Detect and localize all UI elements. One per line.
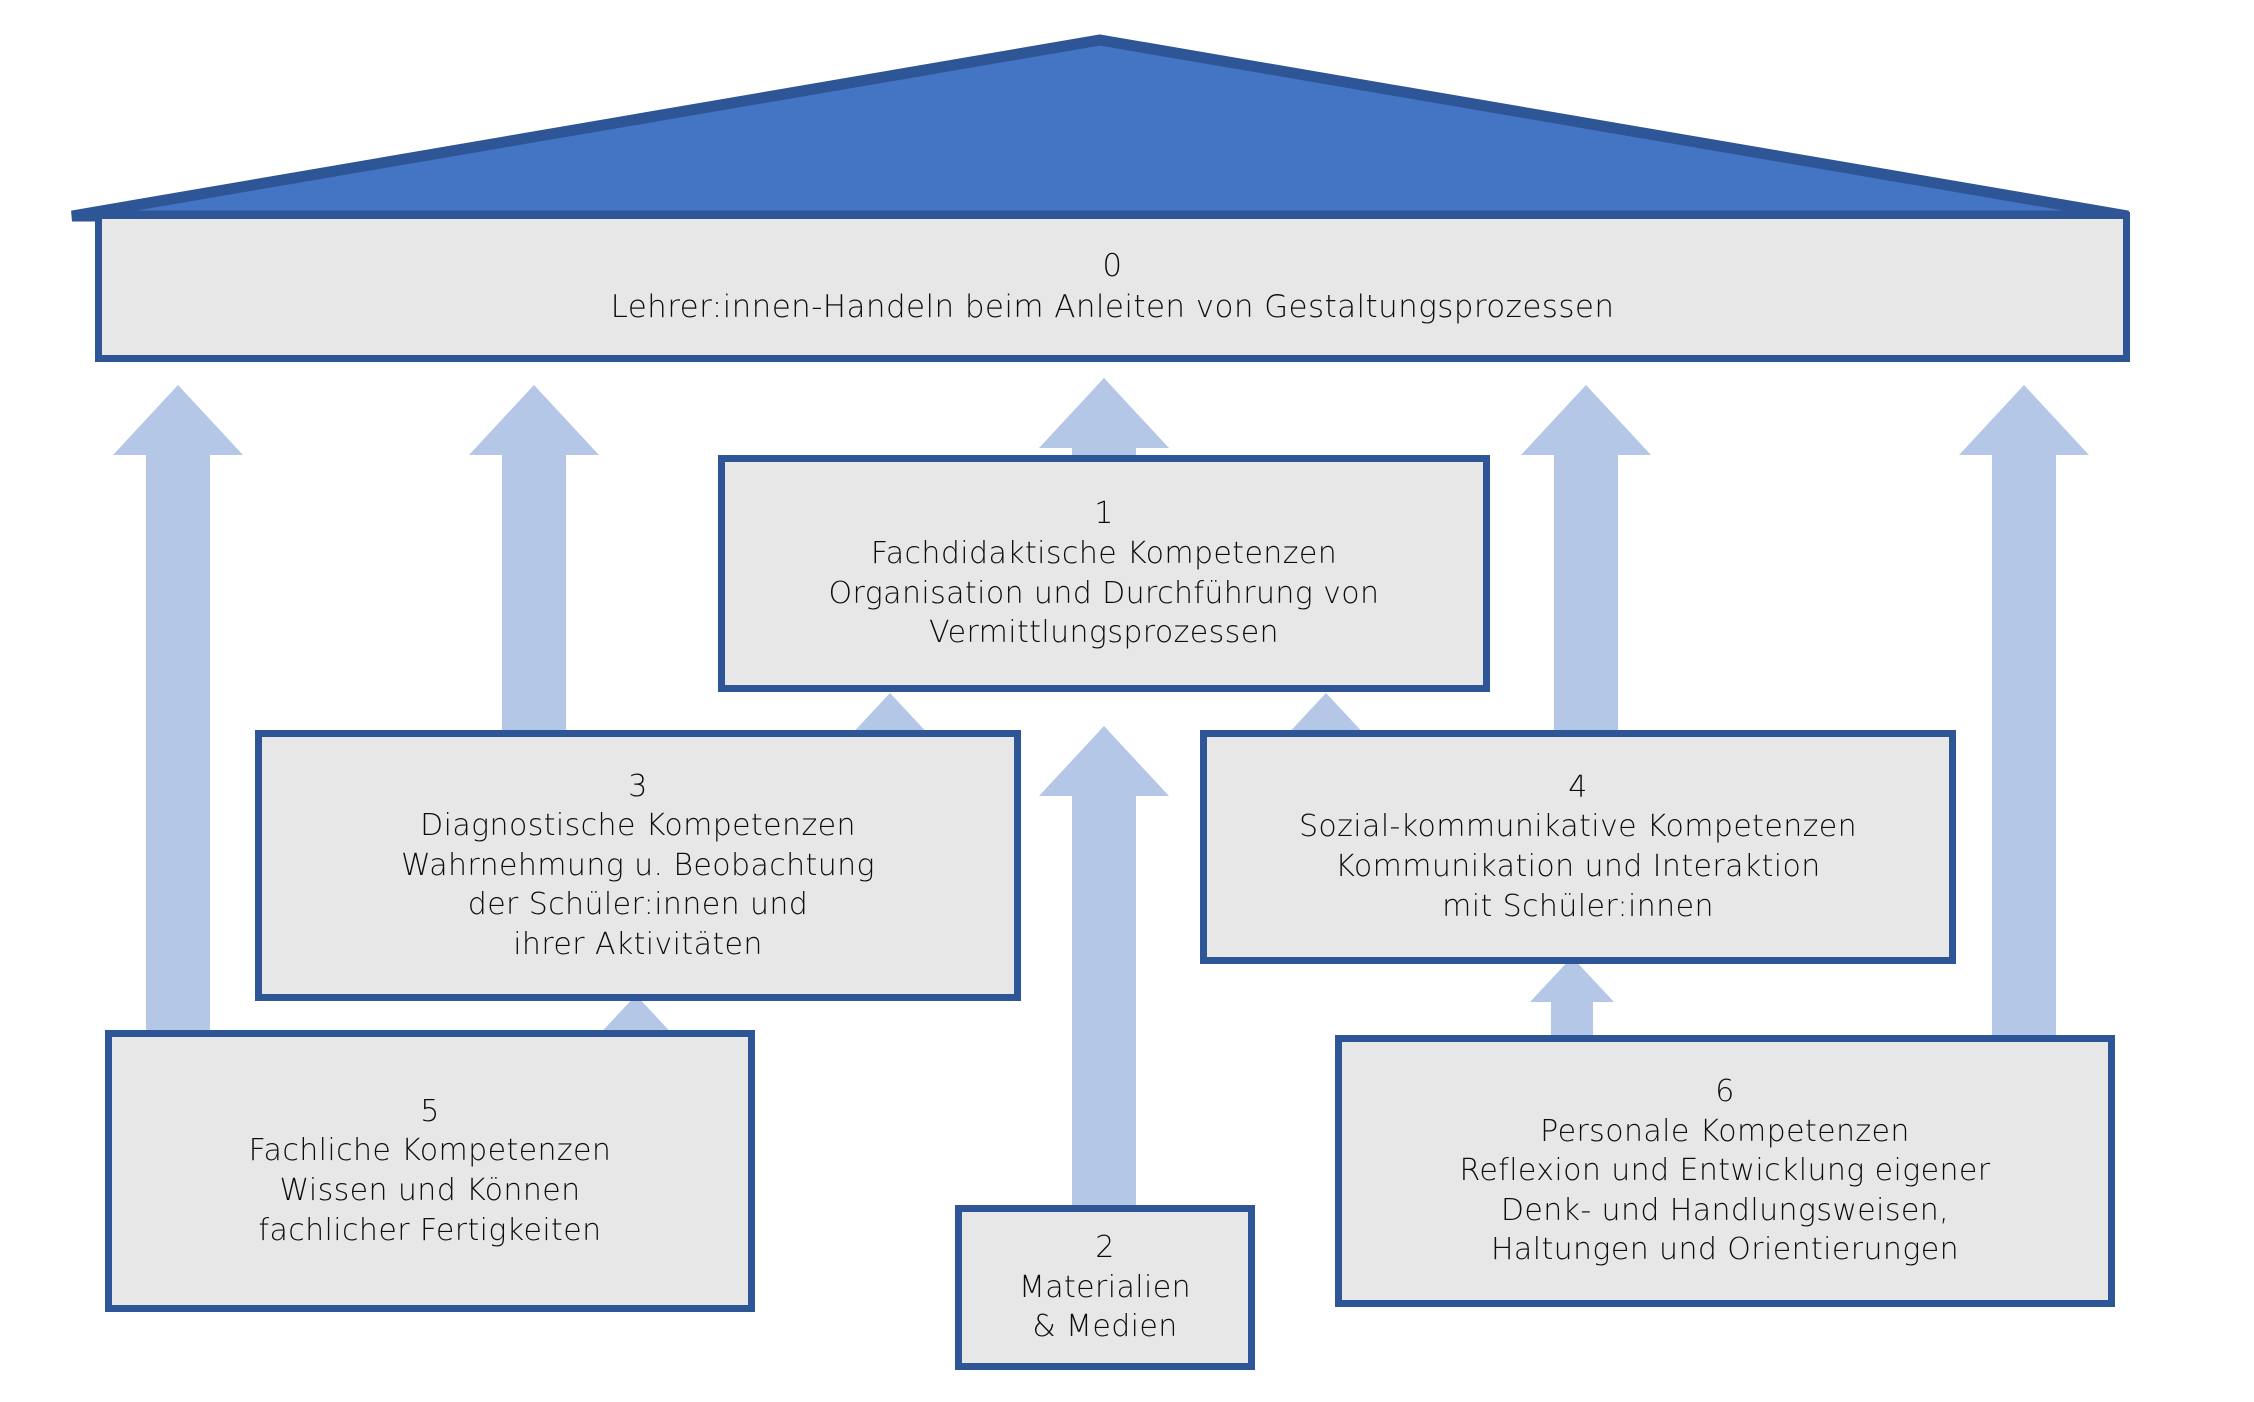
node-3-line-1: Diagnostische Kompetenzen — [401, 806, 875, 846]
node-5-line-3: fachlicher Fertigkeiten — [249, 1211, 612, 1251]
node-box-3[interactable]: 3 Diagnostische Kompetenzen Wahrnehmung … — [255, 730, 1021, 1001]
node-2-line-1: Materialien — [1019, 1268, 1191, 1308]
node-3-content: 3 Diagnostische Kompetenzen Wahrnehmung … — [389, 767, 887, 965]
node-3-number: 3 — [401, 767, 875, 807]
node-6-line-4: Haltungen und Orientierungen — [1459, 1230, 1990, 1270]
node-6-line-2: Reflexion und Entwicklung eigener — [1459, 1151, 1990, 1191]
diagram-canvas: 0 Lehrer:innen-Handeln beim Anleiten von… — [0, 0, 2254, 1402]
node-box-1[interactable]: 1 Fachdidaktische Kompetenzen Organisati… — [718, 455, 1490, 692]
node-6-number: 6 — [1459, 1072, 1990, 1112]
node-0-line-1: Lehrer:innen-Handeln beim Anleiten von G… — [611, 287, 1615, 328]
node-5-content: 5 Fachliche Kompetenzen Wissen und Könne… — [237, 1092, 624, 1250]
node-4-line-3: mit Schüler:innen — [1299, 887, 1857, 927]
arrow-3-to-0-left — [469, 385, 599, 730]
node-6-content: 6 Personale Kompetenzen Reflexion und En… — [1447, 1072, 2002, 1270]
node-0-number: 0 — [611, 246, 1615, 287]
node-box-2[interactable]: 2 Materialien & Medien — [955, 1205, 1255, 1370]
node-box-4[interactable]: 4 Sozial-kommunikative Kompetenzen Kommu… — [1200, 730, 1956, 964]
node-2-number: 2 — [1019, 1228, 1191, 1268]
node-6-line-3: Denk- und Handlungsweisen, — [1459, 1191, 1990, 1231]
node-3-line-2: Wahrnehmung u. Beobachtung — [401, 846, 875, 886]
node-4-content: 4 Sozial-kommunikative Kompetenzen Kommu… — [1287, 768, 1869, 926]
node-5-line-1: Fachliche Kompetenzen — [249, 1131, 612, 1171]
node-1-line-3: Vermittlungsprozessen — [829, 613, 1380, 653]
node-5-line-2: Wissen und Können — [249, 1171, 612, 1211]
node-1-content: 1 Fachdidaktische Kompetenzen Organisati… — [817, 494, 1392, 652]
node-2-line-2: & Medien — [1019, 1307, 1191, 1347]
arrow-6-to-0-outer-right — [1959, 385, 2089, 1035]
arrow-2-to-1-center — [1039, 726, 1169, 1205]
node-1-line-1: Fachdidaktische Kompetenzen — [829, 534, 1380, 574]
arrow-1-to-0-center — [1039, 378, 1169, 456]
node-box-5[interactable]: 5 Fachliche Kompetenzen Wissen und Könne… — [105, 1030, 755, 1312]
node-4-number: 4 — [1299, 768, 1857, 808]
node-4-line-2: Kommunikation und Interaktion — [1299, 847, 1857, 887]
arrow-4-to-0-right — [1521, 385, 1651, 730]
node-1-line-2: Organisation und Durchführung von — [829, 574, 1380, 614]
node-box-6[interactable]: 6 Personale Kompetenzen Reflexion und En… — [1335, 1035, 2115, 1307]
node-6-line-1: Personale Kompetenzen — [1459, 1112, 1990, 1152]
node-0-content: 0 Lehrer:innen-Handeln beim Anleiten von… — [599, 246, 1627, 328]
node-box-0[interactable]: 0 Lehrer:innen-Handeln beim Anleiten von… — [95, 212, 2130, 362]
node-4-line-1: Sozial-kommunikative Kompetenzen — [1299, 807, 1857, 847]
node-2-content: 2 Materialien & Medien — [1007, 1228, 1203, 1347]
arrow-5-to-0-outer-left — [113, 385, 243, 1030]
node-1-number: 1 — [829, 494, 1380, 534]
roof-triangle — [72, 40, 2128, 216]
node-3-line-3: der Schüler:innen und — [401, 885, 875, 925]
node-3-line-4: ihrer Aktivitäten — [401, 925, 875, 965]
node-5-number: 5 — [249, 1092, 612, 1132]
